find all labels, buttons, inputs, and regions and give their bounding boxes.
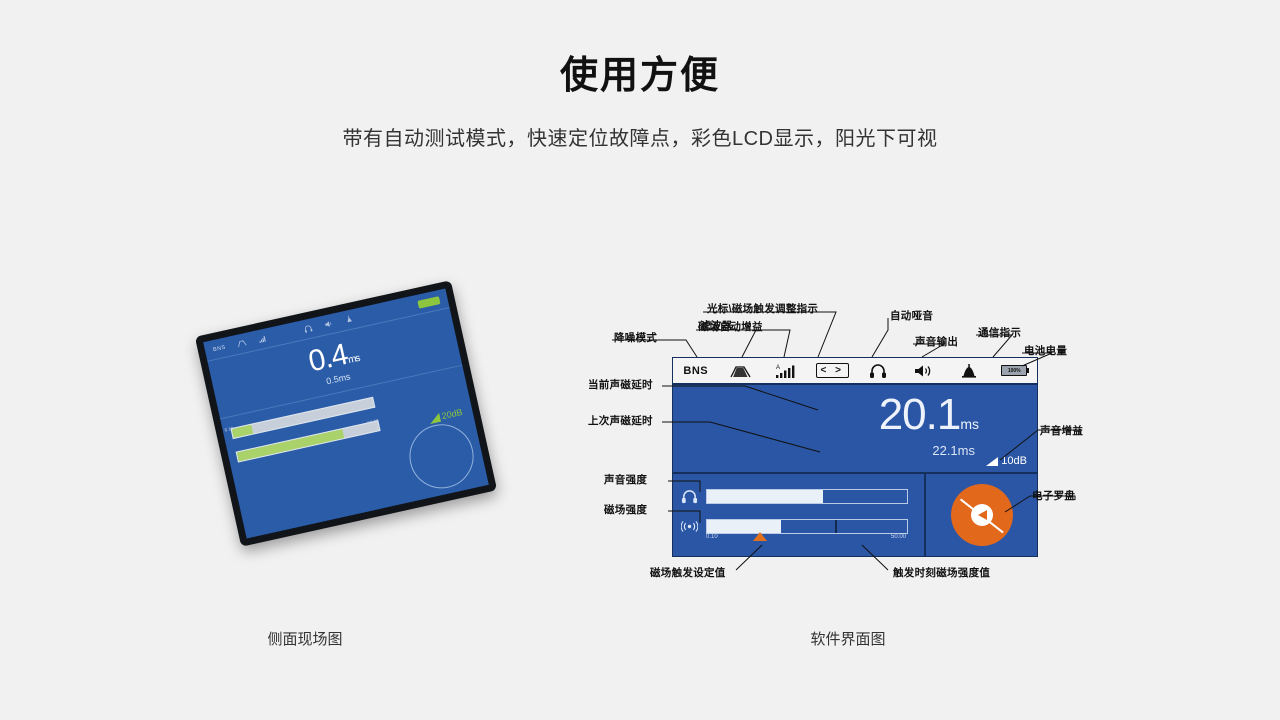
anno-noise-mode: 降噪模式 — [614, 330, 657, 345]
anno-audio-output: 声音输出 — [915, 334, 958, 349]
scale-min-label: 0.10 — [706, 534, 718, 540]
antenna-icon — [960, 363, 978, 379]
ui-status-bar: BNS A — [673, 358, 1037, 385]
anno-previous-delay: 上次声磁延时 — [588, 413, 653, 428]
headphone-icon — [681, 488, 698, 505]
status-battery[interactable]: 100% — [992, 365, 1038, 376]
device-body: BNS — [195, 280, 497, 547]
audio-strength-bar[interactable] — [706, 489, 908, 504]
software-ui-panel: BNS A — [672, 357, 1038, 557]
device-mode-label: BNS — [212, 344, 226, 353]
page-subtitle: 带有自动测试模式，快速定位故障点，彩色LCD显示，阳光下可视 — [0, 122, 1280, 151]
left-right-arrows-icon: < > — [816, 363, 849, 378]
annotation-leader-lines — [0, 0, 1280, 720]
antenna-icon — [344, 314, 355, 325]
anno-auto-mute: 自动哑音 — [890, 308, 933, 323]
status-cursor-trigger[interactable]: < > — [810, 363, 856, 378]
scale-max-label: 50.00 — [891, 534, 906, 540]
magnetic-wave-icon — [681, 518, 698, 535]
status-comm-indicator[interactable] — [946, 363, 992, 379]
anno-current-delay: 当前声磁延时 — [588, 377, 653, 392]
electronic-compass — [951, 484, 1013, 546]
battery-icon: 100% — [1001, 365, 1027, 376]
trigger-setpoint-marker[interactable] — [753, 532, 767, 541]
anno-trigger-setpoint: 磁场触发设定值 — [650, 565, 726, 580]
right-caption: 软件界面图 — [768, 628, 928, 649]
signal-bars-a-icon: A — [775, 363, 799, 379]
filter-curve-icon — [730, 364, 752, 378]
anno-cursor-trigger: 光标\磁场触发调整指示 — [707, 301, 818, 316]
headphone-icon — [303, 323, 314, 334]
slide-canvas: 使用方便 带有自动测试模式，快速定位故障点，彩色LCD显示，阳光下可视 BNS — [0, 0, 1280, 720]
status-noise-mode[interactable]: BNS — [673, 365, 719, 377]
compass-arrow-icon — [971, 504, 993, 526]
anno-magnetic-strength: 磁场强度 — [604, 502, 647, 517]
left-caption: 侧面现场图 — [225, 628, 385, 649]
filter-icon — [236, 338, 247, 349]
svg-text:A: A — [776, 365, 780, 371]
battery-icon — [417, 296, 440, 309]
anno-comm-indicator: 通信指示 — [978, 325, 1021, 340]
anno-compass: 电子罗盘 — [1032, 488, 1075, 503]
gain-triangle-icon — [428, 412, 441, 423]
status-auto-mute[interactable] — [855, 363, 901, 379]
page-title: 使用方便 — [0, 44, 1280, 99]
signal-bars-a-icon — [257, 334, 268, 345]
ui-main-readout: 20.1ms 22.1ms 10dB — [673, 387, 1037, 474]
status-filter[interactable] — [719, 364, 765, 378]
current-delay-value: 20.1ms — [879, 393, 979, 437]
device-photo: BNS — [205, 288, 495, 573]
audio-gain-indicator: 10dB — [986, 455, 1027, 467]
anno-auto-gain: 磁场自动增益 — [698, 319, 763, 334]
magnetic-strength-bar[interactable] — [706, 519, 908, 534]
ui-bars-area: 0.10 50.00 — [673, 474, 926, 556]
status-auto-gain[interactable]: A — [764, 363, 810, 379]
device-compass — [403, 418, 479, 494]
previous-delay-value: 22.1ms — [932, 443, 975, 458]
gain-triangle-icon — [986, 457, 998, 466]
ui-bottom-section: 0.10 50.00 — [673, 474, 1037, 556]
headphone-icon — [869, 363, 887, 379]
ui-compass-area — [927, 474, 1037, 556]
magnetic-strength-row — [681, 518, 908, 535]
anno-audio-gain: 声音增益 — [1040, 423, 1083, 438]
device-gain-indicator: 20dB — [428, 407, 463, 424]
anno-trigger-value: 触发时刻磁场强度值 — [893, 565, 990, 580]
speaker-icon — [913, 363, 933, 379]
status-audio-output[interactable] — [901, 363, 947, 379]
anno-battery: 电池电量 — [1024, 343, 1067, 358]
anno-audio-strength: 声音强度 — [604, 472, 647, 487]
speaker-icon — [323, 319, 334, 330]
magnetic-scale: 0.10 50.00 — [706, 534, 906, 544]
audio-strength-row — [681, 488, 908, 505]
